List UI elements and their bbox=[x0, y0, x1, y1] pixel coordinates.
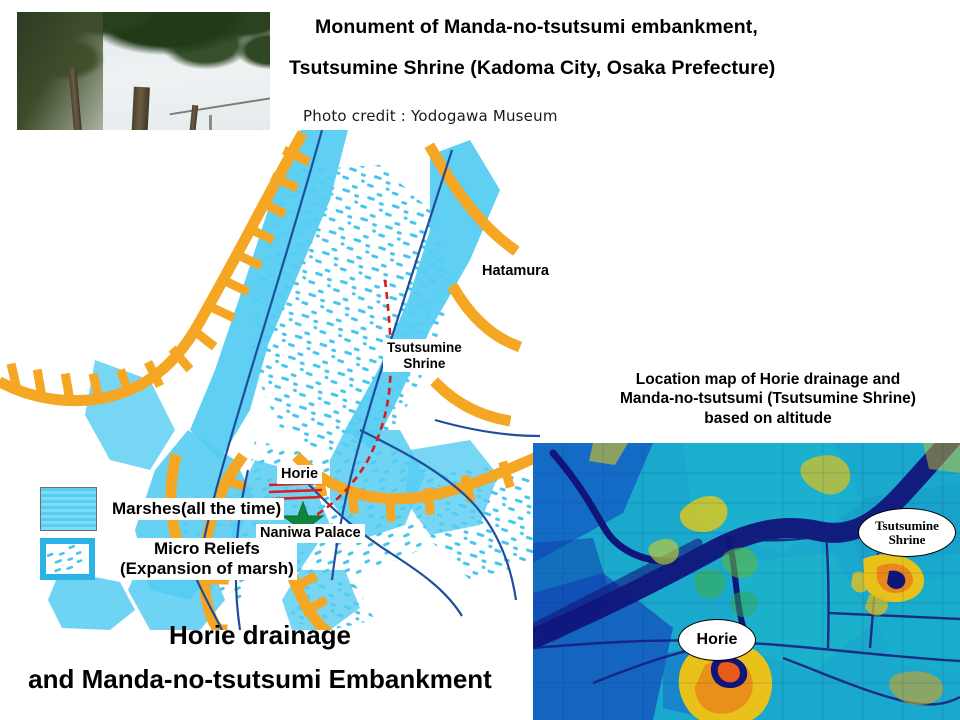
page-title: Monument of Manda-no-tsutsumi embankment… bbox=[283, 18, 903, 78]
map-label-hatamura: Hatamura bbox=[478, 262, 553, 281]
poster-root: 史 跡 茨 田 提 Monument of Manda-no-tsutsumi … bbox=[0, 0, 960, 720]
altitude-label-tsutsumine-shrine: Tsutsumine Shrine bbox=[858, 508, 956, 557]
micro-relief-swatch-inner bbox=[46, 544, 89, 574]
altitude-relief-map bbox=[533, 443, 960, 720]
legend-item-marshes: Marshes(all the time) bbox=[40, 487, 330, 531]
map-label-tsutsumine-line1: Tsutsumine bbox=[387, 340, 462, 356]
map-label-horie: Horie bbox=[277, 465, 322, 484]
micro-relief-swatch-icon bbox=[40, 538, 95, 580]
legend-label-marshes: Marshes(all the time) bbox=[109, 498, 284, 520]
map-label-tsutsumine-line2: Shrine bbox=[387, 356, 462, 372]
micro-relief-speckle-icon bbox=[46, 544, 89, 574]
altitude-label-horie: Horie bbox=[678, 619, 756, 661]
altitude-label-tsutsumine-line2: Shrine bbox=[875, 533, 939, 547]
title-line-1: Monument of Manda-no-tsutsumi embankment… bbox=[315, 18, 903, 38]
title-line-2: Tsutsumine Shrine (Kadoma City, Osaka Pr… bbox=[289, 59, 903, 79]
altitude-map-caption-line2: Manda-no-tsutsumi (Tsutsumine Shrine) bbox=[578, 389, 958, 408]
altitude-map-caption-line3: based on altitude bbox=[578, 409, 958, 428]
map-legend: Marshes(all the time) bbox=[40, 487, 330, 580]
bottom-title-line1: Horie drainage bbox=[0, 620, 520, 651]
marsh-swatch-icon bbox=[40, 487, 97, 531]
legend-label-micro-reliefs-line1: Micro Reliefs bbox=[120, 539, 294, 559]
photo-credit: Photo credit : Yodogawa Museum bbox=[303, 107, 558, 125]
altitude-map-caption: Location map of Horie drainage and Manda… bbox=[578, 370, 958, 428]
bottom-title-line2: and Manda-no-tsutsumi Embankment bbox=[0, 664, 520, 695]
legend-item-micro-reliefs: Micro Reliefs (Expansion of marsh) bbox=[40, 538, 330, 580]
legend-label-micro-reliefs-line2: (Expansion of marsh) bbox=[120, 559, 294, 579]
altitude-label-tsutsumine-line1: Tsutsumine bbox=[875, 519, 939, 533]
bottom-title: Horie drainage and Manda-no-tsutsumi Emb… bbox=[0, 620, 520, 695]
altitude-map-caption-line1: Location map of Horie drainage and bbox=[578, 370, 958, 389]
legend-label-micro-reliefs: Micro Reliefs (Expansion of marsh) bbox=[117, 538, 297, 580]
altitude-map-svg bbox=[533, 443, 960, 720]
map-label-tsutsumine-shrine: Tsutsumine Shrine bbox=[383, 339, 466, 372]
